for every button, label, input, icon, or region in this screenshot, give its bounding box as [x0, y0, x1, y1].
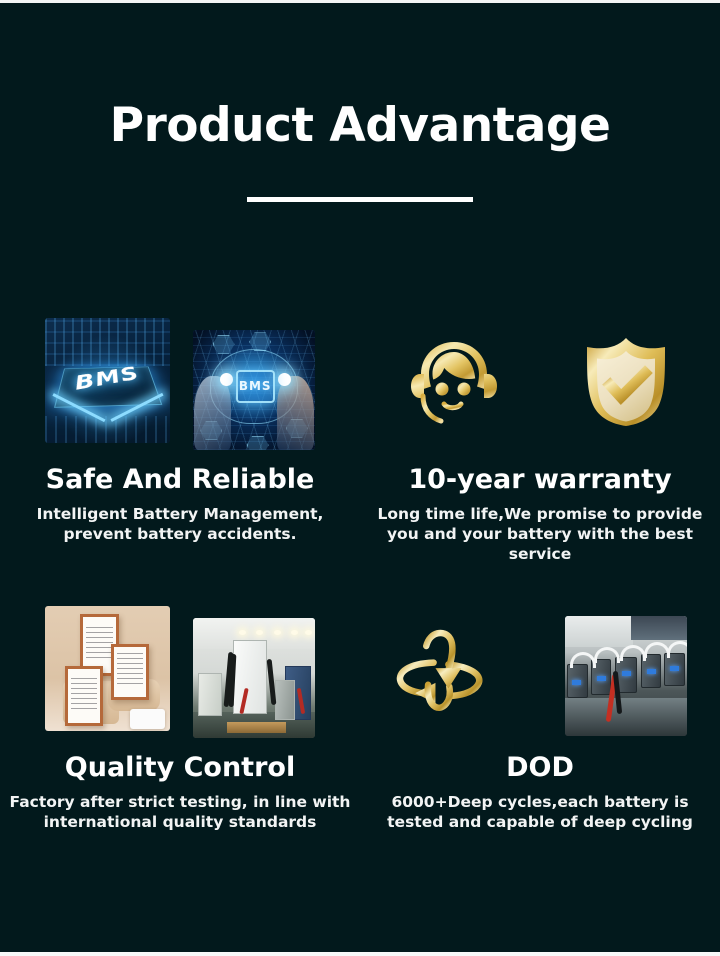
feature-description: Factory after strict testing, in line wi…	[5, 792, 355, 832]
customer-support-agent-icon	[406, 332, 502, 432]
bms-hologram-label: BMS	[239, 379, 272, 393]
feature-title: Safe And Reliable	[46, 464, 315, 496]
feature-quality-control: Quality Control Factory after strict tes…	[0, 606, 360, 832]
top-edge-strip	[0, 0, 720, 3]
feature-10-year-warranty: 10-year warranty Long time life,We promi…	[360, 318, 720, 564]
bottom-edge-strip	[0, 952, 720, 956]
cycle-rotation-icon	[393, 620, 489, 720]
feature-icon-pair	[406, 318, 674, 446]
feature-description: Long time life,We promise to provide you…	[365, 504, 715, 564]
feature-title: Quality Control	[65, 752, 295, 784]
feature-title: DOD	[506, 752, 574, 784]
features-grid: BMS	[0, 318, 720, 832]
feature-row-2: Quality Control Factory after strict tes…	[0, 606, 720, 832]
feature-media-pair	[393, 606, 687, 734]
feature-title: 10-year warranty	[408, 464, 671, 496]
header-block: Product Advantage	[0, 96, 720, 202]
feature-safe-and-reliable: BMS	[0, 318, 360, 564]
bms-chip-photo: BMS	[45, 318, 170, 443]
shield-check-icon	[578, 332, 674, 432]
battery-rack-photo	[565, 616, 687, 736]
feature-description: Intelligent Battery Management, prevent …	[5, 504, 355, 544]
feature-description: 6000+Deep cycles,each battery is tested …	[365, 792, 715, 832]
feature-dod: DOD 6000+Deep cycles,each battery is tes…	[360, 606, 720, 832]
feature-media-pair	[45, 606, 315, 734]
feature-row-1: BMS	[0, 318, 720, 564]
certificates-photo	[45, 606, 170, 731]
page-title: Product Advantage	[0, 96, 720, 156]
bms-touchscreen-photo: BMS	[193, 330, 315, 450]
title-divider	[247, 197, 473, 202]
product-advantage-page: Product Advantage BMS	[0, 0, 720, 956]
factory-testing-photo	[193, 618, 315, 738]
feature-media-pair: BMS	[45, 318, 315, 446]
